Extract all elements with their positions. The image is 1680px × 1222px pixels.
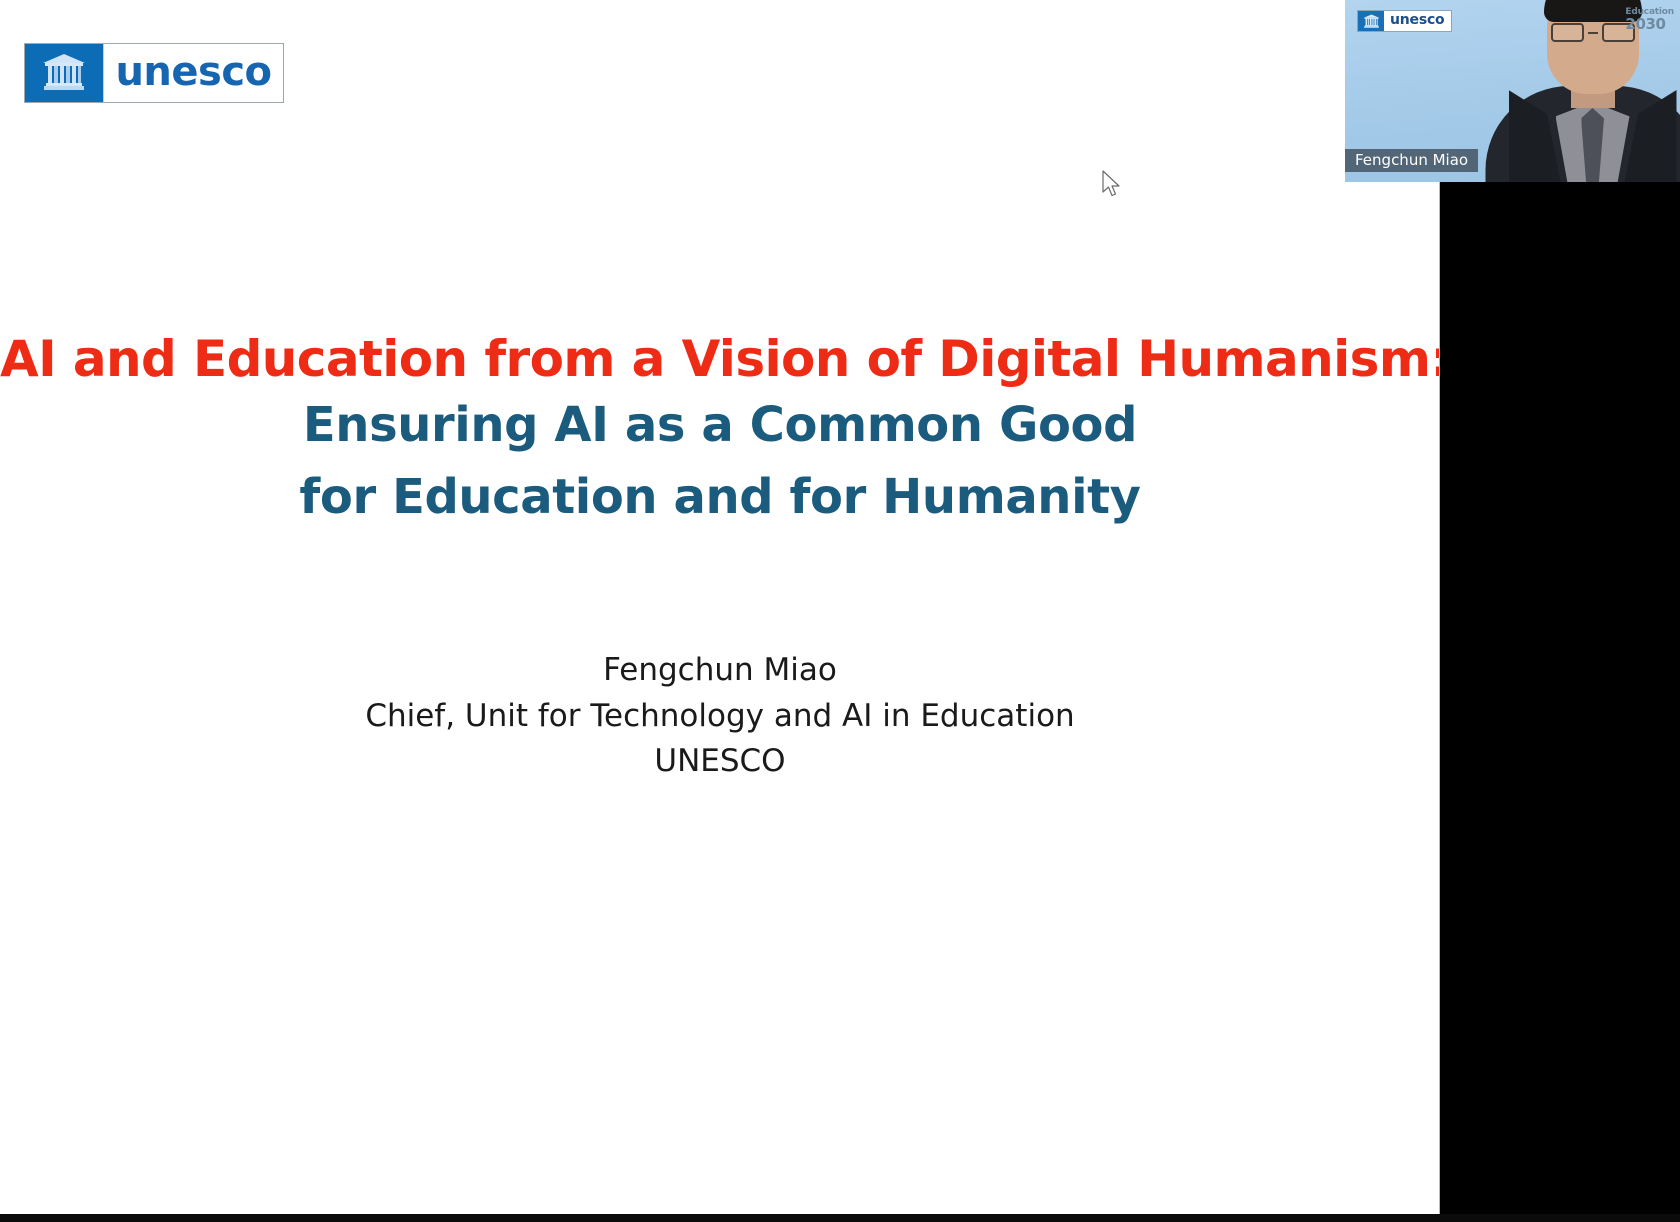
bottom-black-strip [0,1214,1680,1222]
education-2030-bottom-text: 2030 [1625,17,1674,32]
black-filler-right [1440,182,1680,1222]
video-unesco-logo: unesco [1357,10,1452,32]
unesco-logo: unesco [24,43,284,103]
slide-title-line-1: AI and Education from a Vision of Digita… [0,330,1440,389]
presentation-slide: unesco AI and Education from a Vision of… [0,0,1440,1216]
glasses-bridge [1588,32,1598,34]
participant-nameplate: Fengchun Miao [1345,149,1478,173]
presenter-name: Fengchun Miao [0,648,1440,694]
participant-webcam-image [1468,10,1680,182]
glasses-lens-left [1551,23,1584,42]
presenter-organization: UNESCO [0,739,1440,785]
presenter-block: Fengchun Miao Chief, Unit for Technology… [0,648,1440,785]
unesco-wordmark: unesco [115,52,271,95]
unesco-temple-icon [25,44,103,102]
video-unesco-wordmark: unesco [1390,13,1444,29]
presenter-role: Chief, Unit for Technology and AI in Edu… [0,694,1440,740]
slide-subtitle-line-2: for Education and for Humanity [0,461,1440,533]
unesco-temple-icon-small [1358,11,1384,31]
video-unesco-wordmark-box: unesco [1384,11,1451,31]
slide-subtitle-line-1: Ensuring AI as a Common Good [0,389,1440,461]
participant-video-tile[interactable]: unesco Education 2030 Fengchun Miao [1345,0,1680,182]
education-2030-logo: Education 2030 [1625,8,1674,32]
screen-capture: unesco AI and Education from a Vision of… [0,0,1680,1222]
slide-title-block: AI and Education from a Vision of Digita… [0,330,1440,533]
eyeglasses-icon [1551,23,1635,42]
unesco-wordmark-box: unesco [103,44,283,102]
